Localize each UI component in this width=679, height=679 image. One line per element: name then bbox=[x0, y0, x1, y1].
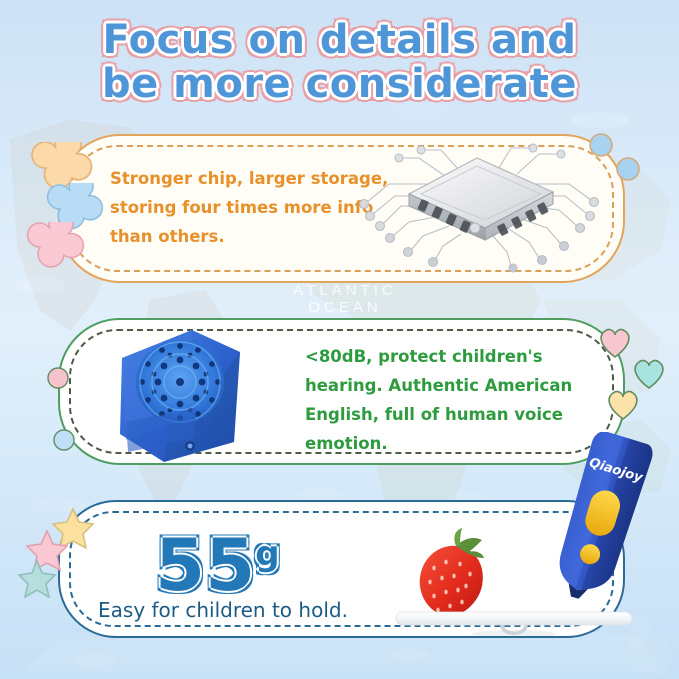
circle-blue-top-decoration bbox=[588, 132, 614, 158]
weight-unit: g bbox=[255, 534, 279, 574]
weight-value: 55g bbox=[155, 518, 280, 601]
infographic-canvas: ATLANTIC OCEAN Focus on details and be m… bbox=[0, 0, 679, 679]
heart-pink-decoration bbox=[596, 324, 634, 360]
reading-pen-product: Qiaojoy bbox=[536, 432, 666, 612]
weight-panel-caption: Easy for children to hold. bbox=[98, 598, 348, 622]
cloud-pink-decoration bbox=[18, 222, 88, 286]
weight-number: 55 bbox=[155, 523, 255, 607]
page-title-line-1: Focus on details and bbox=[0, 18, 679, 62]
blue-speaker-icon bbox=[108, 322, 258, 462]
ocean-label: ATLANTIC OCEAN bbox=[255, 282, 435, 316]
circle-blue-bottom-decoration bbox=[52, 428, 76, 452]
star-teal-decoration bbox=[16, 558, 58, 598]
circle-pink-decoration bbox=[46, 366, 70, 390]
circle-blue-lower-decoration bbox=[615, 156, 641, 182]
chip-panel: Stronger chip, larger storage, storing f… bbox=[58, 134, 625, 283]
microchip-icon bbox=[349, 140, 609, 276]
page-title: Focus on details and be more considerate bbox=[0, 18, 679, 106]
heart-yellow-decoration bbox=[604, 386, 642, 422]
page-title-line-2: be more considerate bbox=[0, 62, 679, 106]
